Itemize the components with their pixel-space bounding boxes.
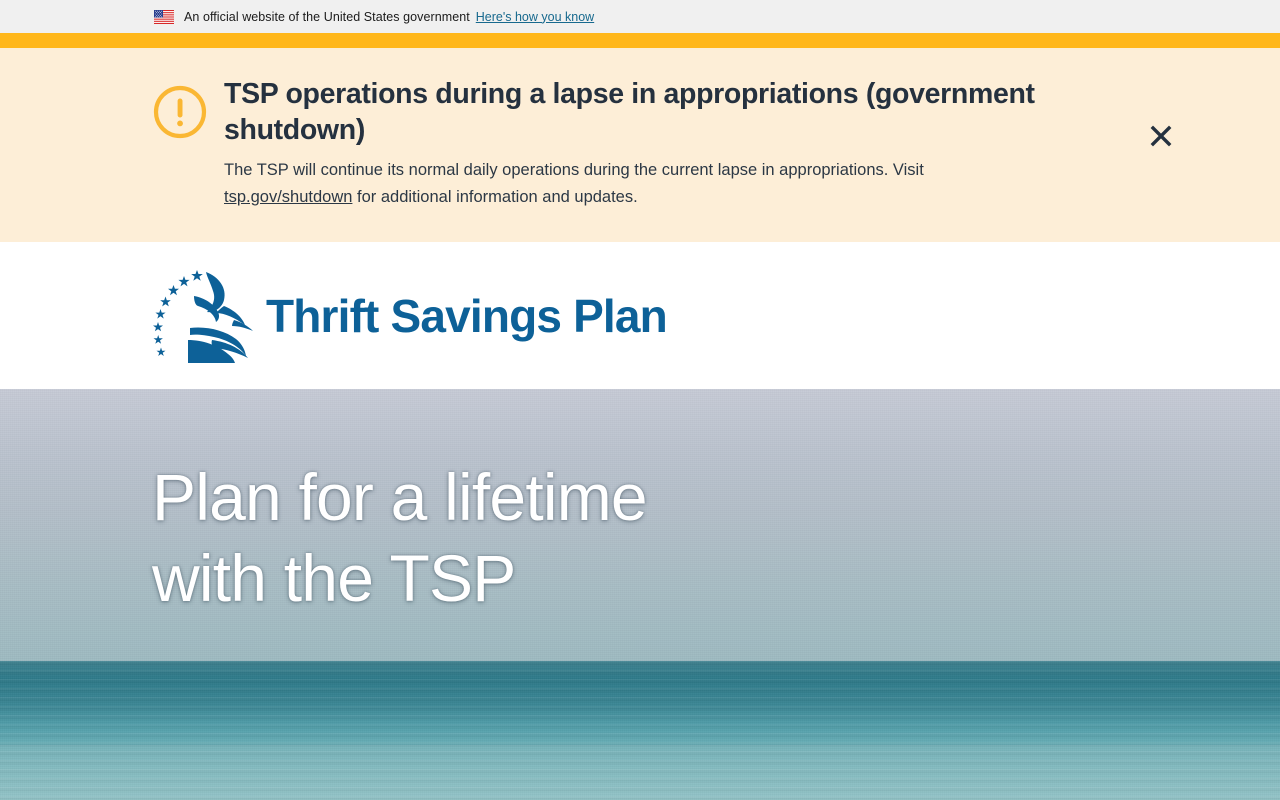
alert-close-button[interactable] [1141, 116, 1181, 156]
alert-text-before: The TSP will continue its normal daily o… [224, 161, 924, 179]
hero-title: Plan for a lifetime with the TSP [152, 457, 647, 618]
tsp-logo-link[interactable]: Thrift Savings Plan [150, 268, 667, 364]
hero-title-line-2: with the TSP [152, 538, 647, 619]
gov-banner-text: An official website of the United States… [184, 10, 470, 24]
hero-copy: Plan for a lifetime with the TSP [152, 457, 647, 618]
close-icon [1150, 125, 1172, 147]
gold-divider [0, 33, 1280, 48]
alert-text-after: for additional information and updates. [352, 188, 637, 206]
us-flag-icon [154, 10, 174, 24]
page-root: An official website of the United States… [0, 0, 1280, 800]
alert-description: The TSP will continue its normal daily o… [224, 157, 1054, 210]
logo-wordmark: Thrift Savings Plan [266, 293, 667, 339]
shutdown-info-link[interactable]: tsp.gov/shutdown [224, 188, 352, 206]
hero-title-line-1: Plan for a lifetime [152, 457, 647, 538]
alert-body: TSP operations during a lapse in appropr… [224, 76, 1054, 210]
hero-section: Plan for a lifetime with the TSP [0, 389, 1280, 800]
hero-ocean-texture [0, 661, 1280, 800]
gov-banner: An official website of the United States… [0, 0, 1280, 33]
tsp-flag-wave-logo-icon [150, 268, 262, 364]
site-header: Thrift Savings Plan [0, 242, 1280, 389]
alert-title: TSP operations during a lapse in appropr… [224, 76, 1054, 149]
shutdown-alert: TSP operations during a lapse in appropr… [0, 48, 1280, 242]
alert-inner: TSP operations during a lapse in appropr… [0, 76, 1280, 210]
how-you-know-link[interactable]: Here's how you know [476, 10, 594, 24]
warning-circle-icon [152, 84, 208, 140]
